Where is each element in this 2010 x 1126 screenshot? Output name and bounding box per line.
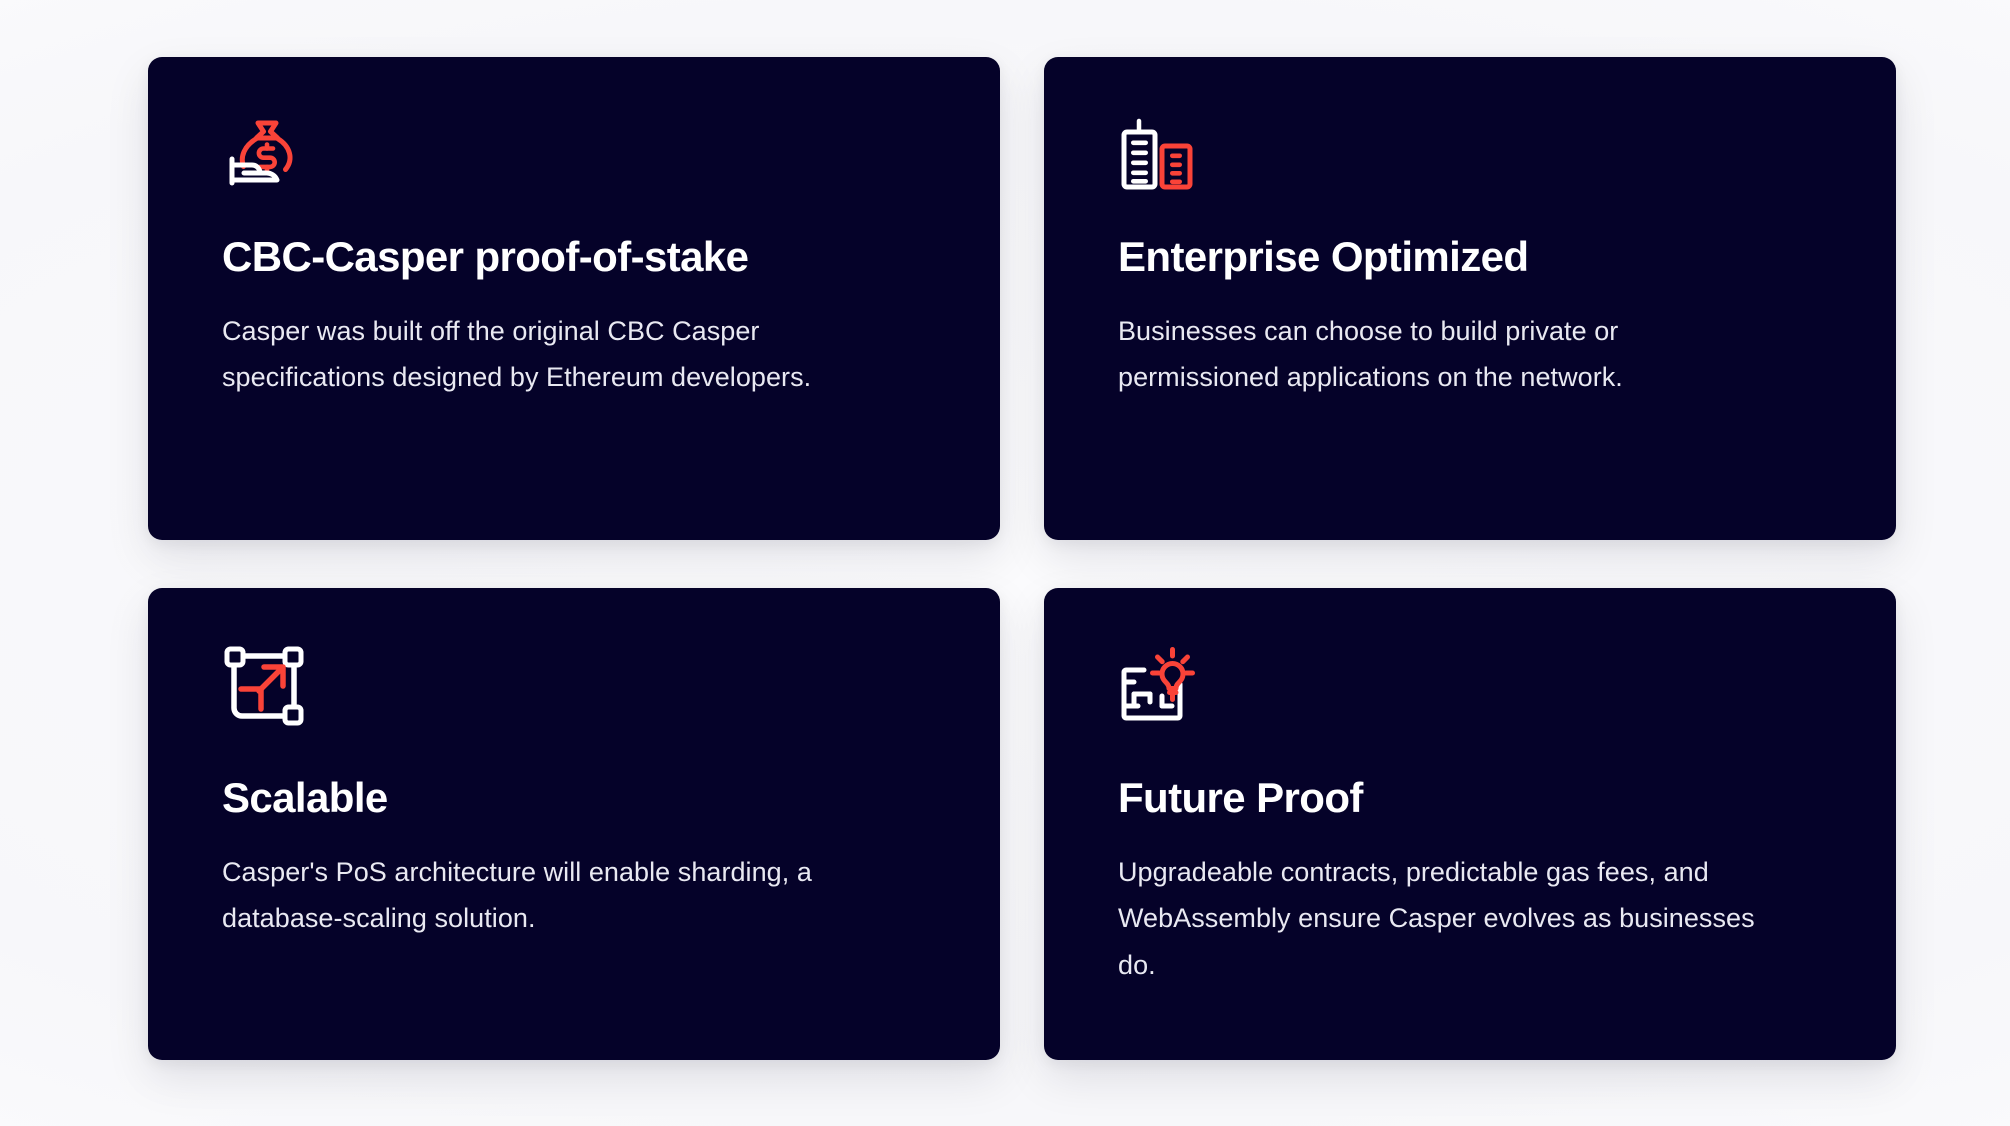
- feature-card-body: Casper was built off the original CBC Ca…: [222, 308, 922, 401]
- feature-card-title: Scalable: [222, 774, 938, 821]
- feature-card-body-line: Casper's PoS architecture will enable sh…: [222, 849, 922, 895]
- feature-card-body-line: permissioned applications on the network…: [1118, 354, 1818, 400]
- feature-card-body: Upgradeable contracts, predictable gas f…: [1118, 849, 1818, 988]
- feature-card-title: CBC-Casper proof-of-stake: [222, 233, 938, 280]
- feature-card-title: Future Proof: [1118, 774, 1834, 821]
- feature-card-enterprise-optimized[interactable]: Enterprise Optimized Businesses can choo…: [1044, 57, 1896, 540]
- feature-card-future-proof[interactable]: Future Proof Upgradeable contracts, pred…: [1044, 588, 1896, 1060]
- feature-card-body-line: Businesses can choose to build private o…: [1118, 308, 1818, 354]
- feature-card-body-line: Casper was built off the original CBC Ca…: [222, 308, 922, 354]
- scale-arrow-frame-icon: [222, 644, 308, 730]
- money-bag-in-hand-icon: [222, 113, 308, 199]
- blueprint-lightbulb-icon: [1118, 644, 1204, 730]
- feature-card-body: Casper's PoS architecture will enable sh…: [222, 849, 922, 942]
- feature-cards-grid: CBC-Casper proof-of-stake Casper was bui…: [148, 57, 1872, 1060]
- feature-cards-page: CBC-Casper proof-of-stake Casper was bui…: [0, 0, 2010, 1126]
- office-buildings-icon: [1118, 113, 1204, 199]
- feature-card-title: Enterprise Optimized: [1118, 233, 1834, 280]
- feature-card-scalable[interactable]: Scalable Casper's PoS architecture will …: [148, 588, 1000, 1060]
- feature-card-body: Businesses can choose to build private o…: [1118, 308, 1818, 401]
- feature-card-body-line: specifications designed by Ethereum deve…: [222, 354, 922, 400]
- feature-card-body-line: do.: [1118, 942, 1818, 988]
- feature-card-cbc-casper-proof-of-stake[interactable]: CBC-Casper proof-of-stake Casper was bui…: [148, 57, 1000, 540]
- feature-card-body-line: database-scaling solution.: [222, 895, 922, 941]
- feature-card-body-line: Upgradeable contracts, predictable gas f…: [1118, 849, 1818, 895]
- feature-card-body-line: WebAssembly ensure Casper evolves as bus…: [1118, 895, 1818, 941]
